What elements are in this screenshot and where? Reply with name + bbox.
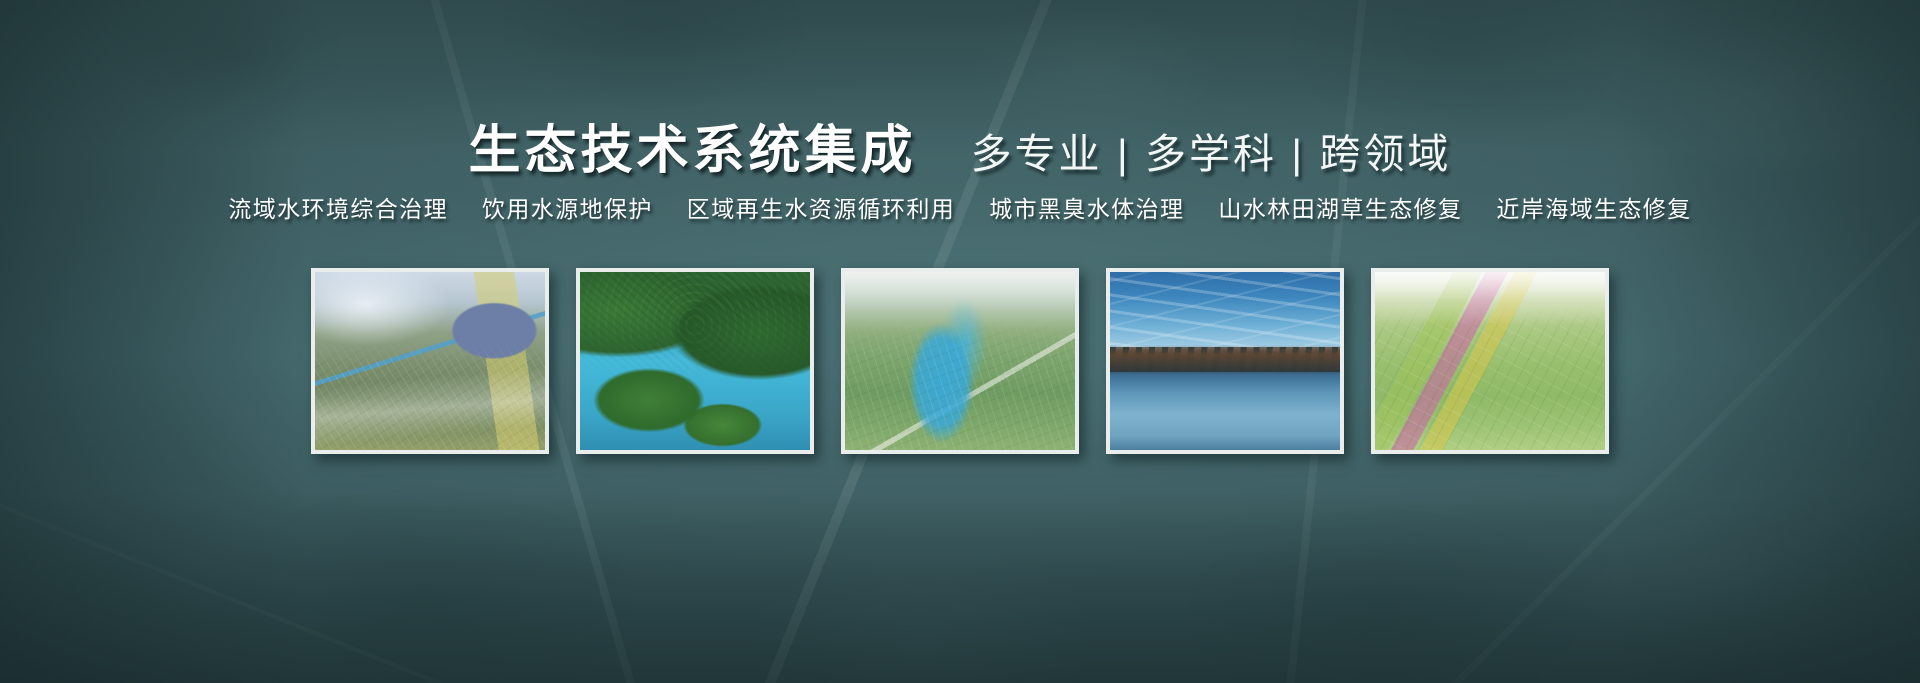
thumbnail-image-coastal-wetland (315, 272, 545, 450)
banner-content: 生态技术系统集成 多专业 | 多学科 | 跨领域 流域水环境综合治理 饮用水源地… (0, 0, 1920, 683)
keyword-item-4[interactable]: 城市黑臭水体治理 (972, 190, 1201, 224)
thumbnail-image-river-corridor (845, 272, 1075, 450)
thumbnail-item-3[interactable] (841, 268, 1079, 454)
thumbnail-item-2[interactable] (576, 268, 814, 454)
thumbnail-item-5[interactable] (1371, 268, 1609, 454)
banner-title: 生态技术系统集成 (469, 108, 917, 183)
thumbnail-image-forested-lake (580, 272, 810, 450)
thumbnail-item-1[interactable] (311, 268, 549, 454)
keyword-item-6[interactable]: 近岸海域生态修复 (1479, 190, 1708, 224)
keyword-item-3[interactable]: 区域再生水资源循环利用 (670, 190, 972, 224)
headline-row: 生态技术系统集成 多专业 | 多学科 | 跨领域 (0, 108, 1920, 183)
thumbnail-item-4[interactable] (1106, 268, 1344, 454)
eco-technology-hero-banner: 生态技术系统集成 多专业 | 多学科 | 跨领域 流域水环境综合治理 饮用水源地… (0, 0, 1920, 683)
thumbnail-gallery (0, 268, 1920, 454)
thumbnail-image-mountain-lake (1110, 272, 1340, 450)
keyword-item-2[interactable]: 饮用水源地保护 (465, 190, 670, 224)
keyword-list: 流域水环境综合治理 饮用水源地保护 区域再生水资源循环利用 城市黑臭水体治理 山… (0, 190, 1920, 224)
keyword-item-5[interactable]: 山水林田湖草生态修复 (1201, 190, 1479, 224)
banner-subtitle: 多专业 | 多学科 | 跨领域 (971, 120, 1452, 180)
keyword-item-1[interactable]: 流域水环境综合治理 (211, 190, 465, 224)
thumbnail-image-farmland-fields (1375, 272, 1605, 450)
